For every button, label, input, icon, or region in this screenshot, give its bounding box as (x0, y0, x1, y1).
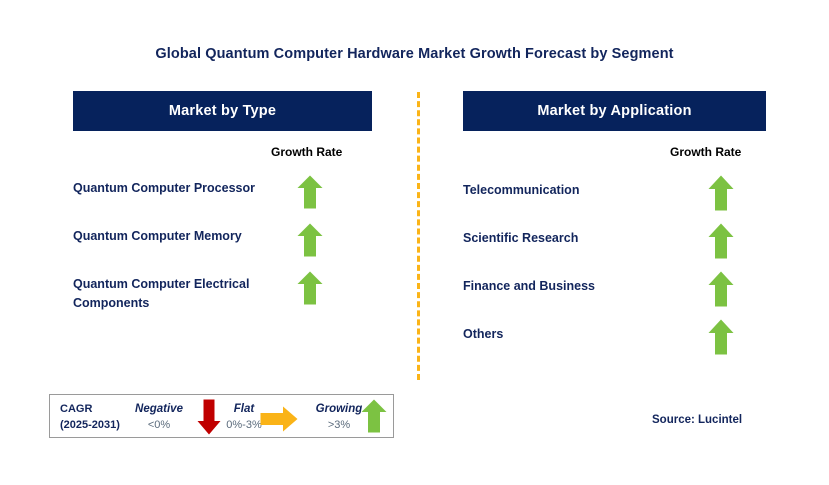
rows-market-by-application: Telecommunication Scientific Research Fi… (463, 175, 766, 367)
legend-cagr-title: CAGR (60, 403, 92, 415)
legend-item-negative: Negative <0% (128, 401, 190, 433)
arrow-up-green-icon (297, 271, 323, 305)
legend-growing-indicator (361, 399, 387, 433)
trend-indicator (297, 271, 323, 305)
arrow-up-green-icon (297, 223, 323, 257)
arrow-up-green-icon (708, 271, 734, 307)
trend-indicator (297, 175, 323, 209)
vertical-dashed-divider (417, 92, 420, 380)
legend-item-value: <0% (128, 417, 190, 433)
arrow-up-green-icon (361, 399, 387, 433)
legend-cagr-block: CAGR (2025-2031) (60, 401, 120, 433)
panel-header-market-by-type: Market by Type (73, 91, 372, 131)
table-row: Quantum Computer Memory (73, 223, 372, 271)
table-row: Quantum Computer Electrical Components (73, 271, 372, 319)
table-row: Quantum Computer Processor (73, 175, 372, 223)
arrow-up-green-icon (297, 175, 323, 209)
arrow-right-orange-icon (260, 406, 298, 432)
segment-label: Quantum Computer Memory (73, 223, 288, 246)
trend-indicator (297, 223, 323, 257)
segment-label: Scientific Research (463, 223, 678, 248)
legend-cagr-period: (2025-2031) (60, 419, 120, 431)
source-attribution: Source: Lucintel (652, 414, 742, 426)
infographic-canvas: Global Quantum Computer Hardware Market … (0, 0, 829, 485)
segment-label: Telecommunication (463, 175, 678, 200)
rows-market-by-type: Quantum Computer Processor Quantum Compu… (73, 175, 372, 319)
legend-flat-indicator (260, 406, 298, 432)
table-row: Scientific Research (463, 223, 766, 271)
table-row: Others (463, 319, 766, 367)
panel-header-market-by-application: Market by Application (463, 91, 766, 131)
trend-indicator (708, 175, 734, 211)
cagr-legend: CAGR (2025-2031) Negative <0% Flat 0%-3% (49, 394, 394, 438)
trend-indicator (708, 271, 734, 307)
segment-label: Others (463, 319, 678, 344)
legend-item-name: Negative (128, 401, 190, 417)
panel-market-by-type: Market by Type (73, 91, 372, 131)
segment-label: Quantum Computer Processor (73, 175, 288, 198)
table-row: Finance and Business (463, 271, 766, 319)
trend-indicator (708, 319, 734, 355)
table-row: Telecommunication (463, 175, 766, 223)
page-title: Global Quantum Computer Hardware Market … (0, 46, 829, 62)
arrow-up-green-icon (708, 223, 734, 259)
arrow-up-green-icon (708, 175, 734, 211)
segment-label: Finance and Business (463, 271, 678, 296)
panel-market-by-application: Market by Application (463, 91, 766, 131)
growth-rate-label-right: Growth Rate (670, 145, 741, 159)
arrow-up-green-icon (708, 319, 734, 355)
trend-indicator (708, 223, 734, 259)
segment-label: Quantum Computer Electrical Components (73, 271, 288, 313)
growth-rate-label-left: Growth Rate (271, 145, 342, 159)
